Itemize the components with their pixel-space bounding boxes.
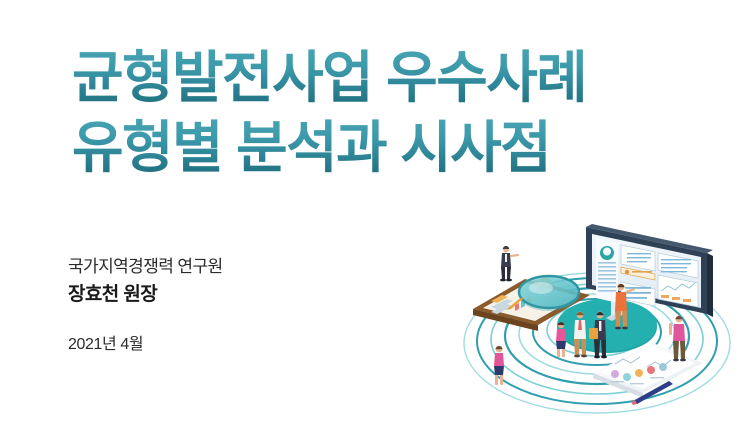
presenter-name: 장효천 원장 xyxy=(68,281,408,309)
page-title: 균형발전사업 우수사례 유형별 분석과 시사점 xyxy=(72,42,692,183)
presentation-date: 2021년 4월 xyxy=(68,330,408,354)
title-line-1: 균형발전사업 우수사례 xyxy=(72,42,692,114)
teal-platform-top xyxy=(557,299,657,351)
isometric-data-analysis-illustration xyxy=(455,215,754,431)
title-line-2: 유형별 분석과 시사점 xyxy=(72,112,692,184)
presentation-title-slide: 균형발전사업 우수사례 유형별 분석과 시사점 국가지역경쟁력 연구원 장효천 … xyxy=(0,0,754,431)
byline-block: 국가지역경쟁력 연구원 장효천 원장 2021년 4월 xyxy=(68,255,408,354)
organization-name: 국가지역경쟁력 연구원 xyxy=(68,255,408,280)
figure-dark-suit-left xyxy=(500,246,519,282)
